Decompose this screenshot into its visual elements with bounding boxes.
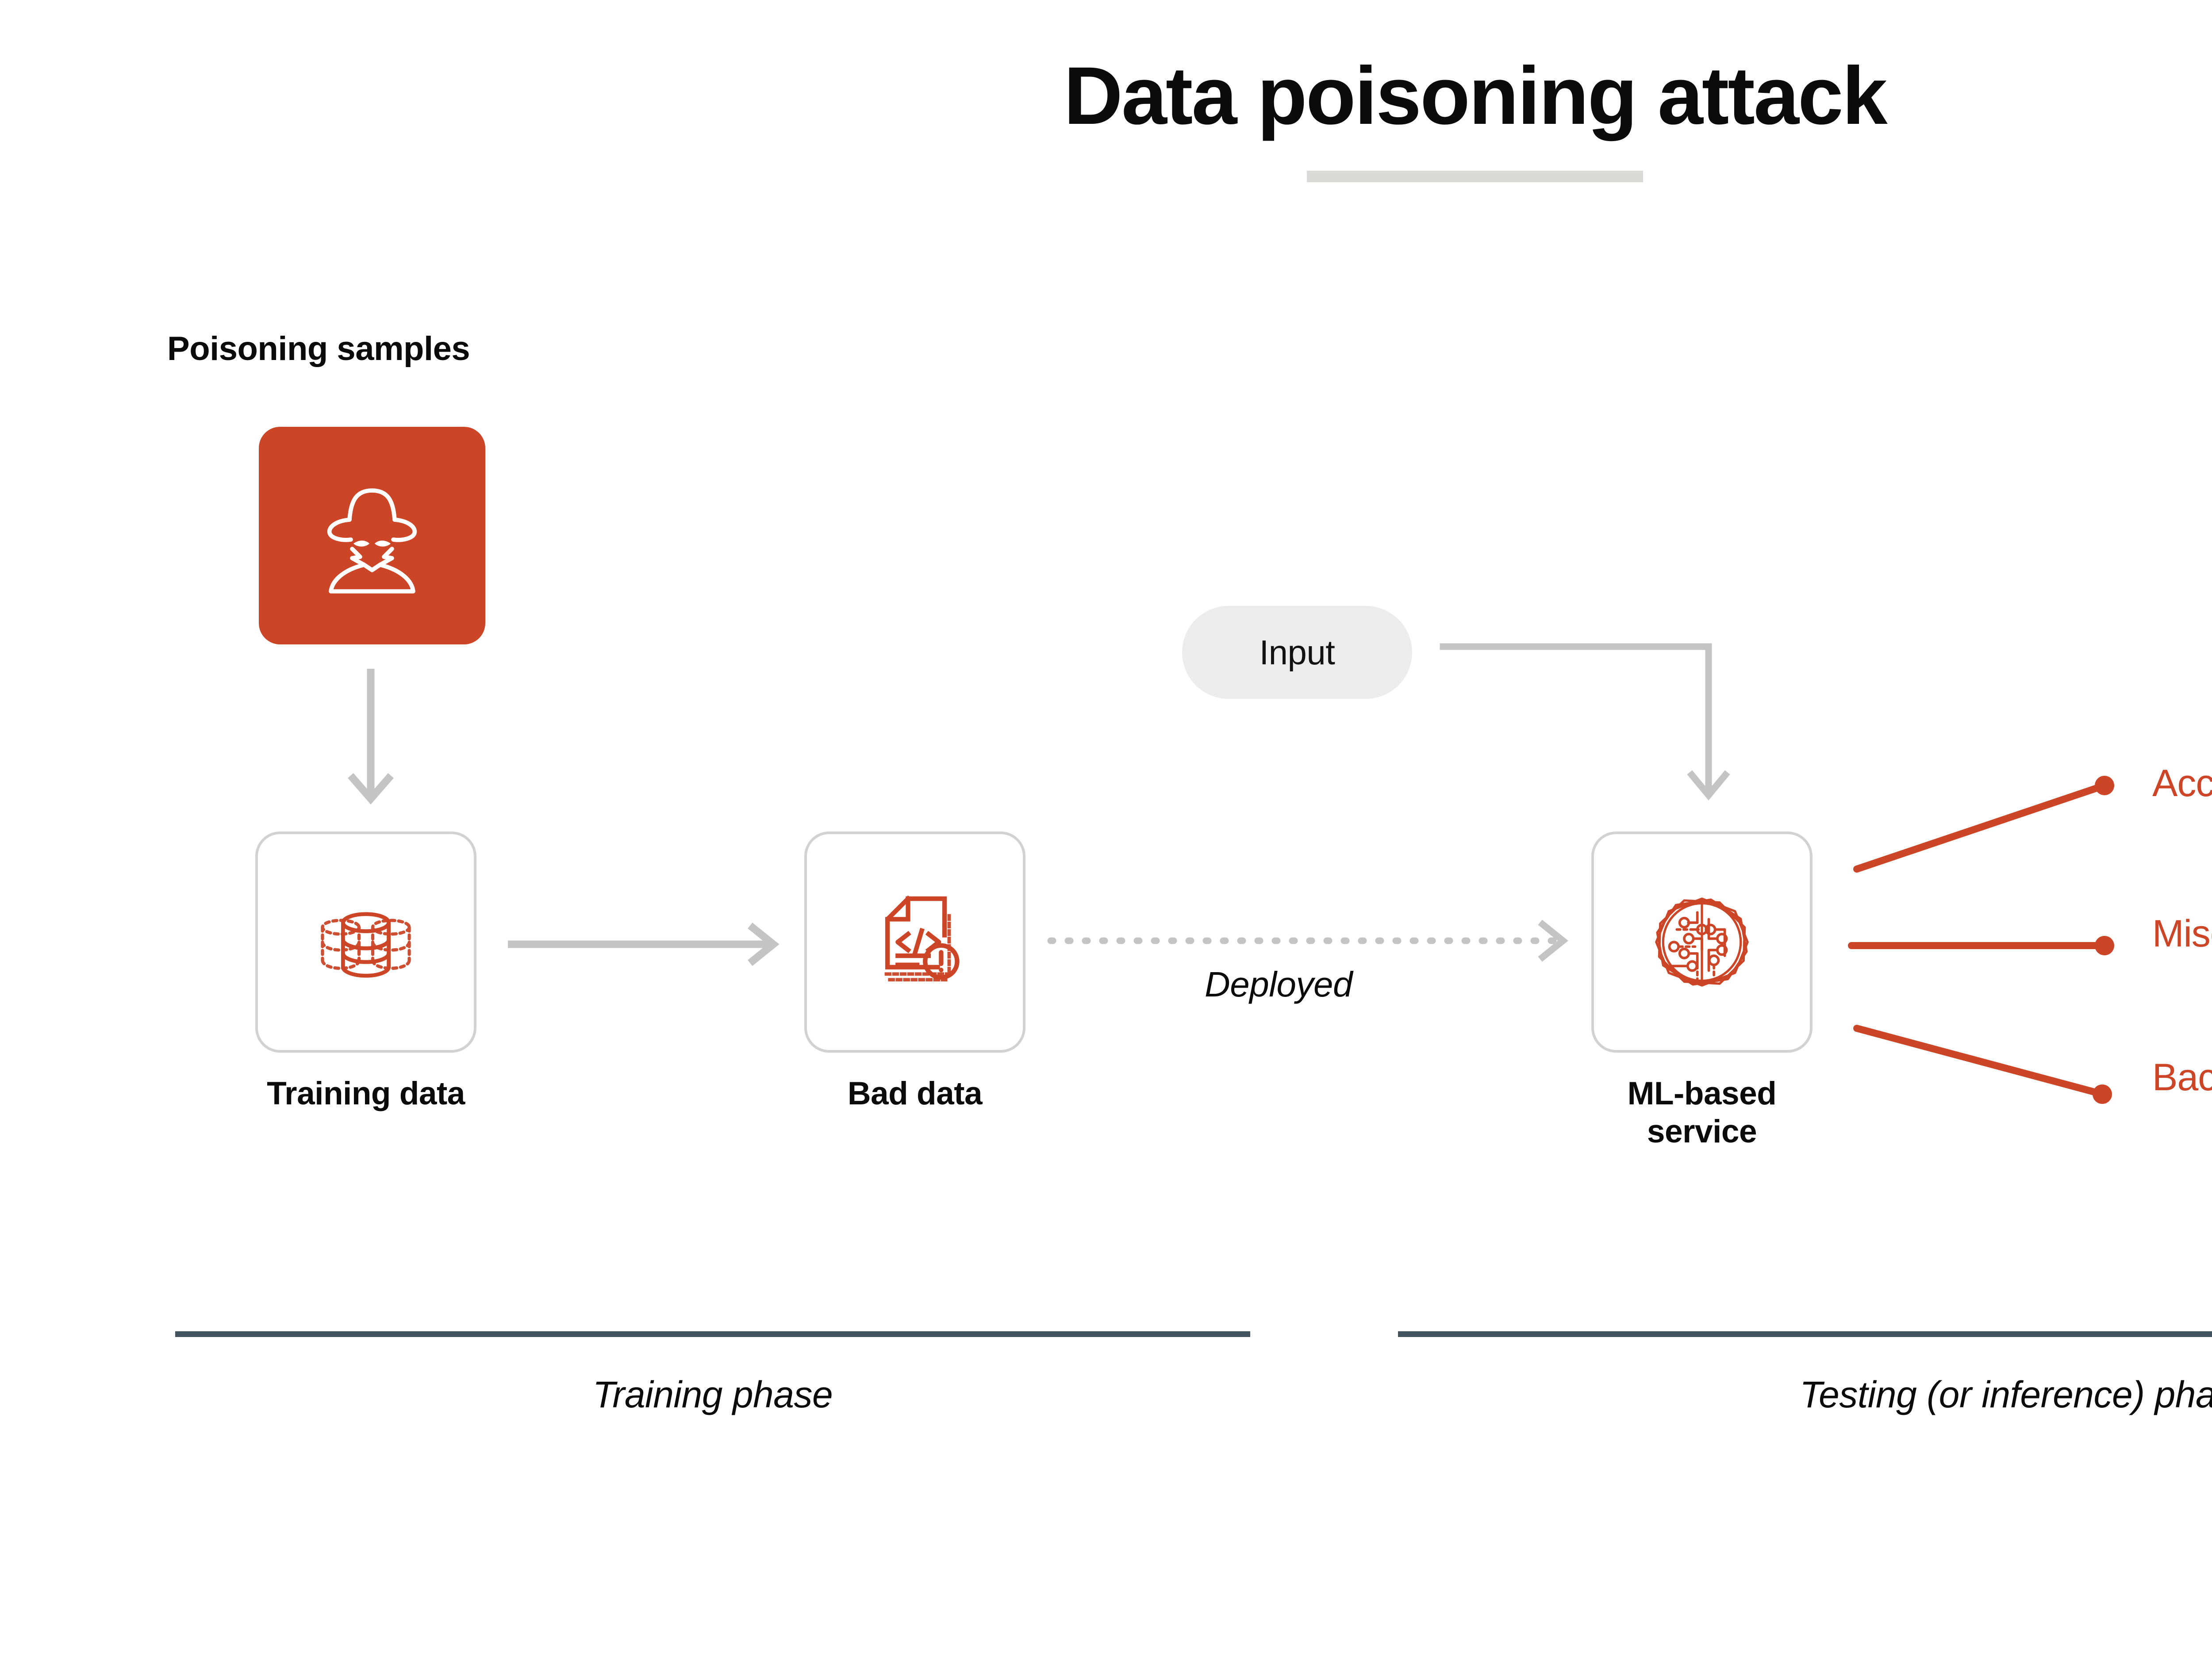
- training-data-card[interactable]: [255, 831, 476, 1053]
- neural-brain-circuit-icon: [1645, 885, 1759, 999]
- database-cylinder-icon: [309, 885, 423, 999]
- input-pill[interactable]: Input: [1182, 606, 1412, 699]
- edge-training-to-bad: [508, 928, 773, 961]
- code-document-warning-icon: [858, 885, 972, 999]
- input-pill-label: Input: [1260, 632, 1335, 673]
- ml-label-line-1: ML-based: [1591, 1075, 1813, 1113]
- training-phase-caption: Training phase: [175, 1373, 1250, 1416]
- edge-attacker-to-training: [353, 669, 388, 799]
- poisoning-samples-tile[interactable]: [259, 427, 485, 644]
- page-title: Data poisoning attack: [0, 53, 2212, 139]
- training-phase-rule: [175, 1331, 1250, 1337]
- edge-input-to-ml: [1443, 647, 1725, 795]
- testing-phase-rule: [1398, 1331, 2212, 1337]
- edge-bad-to-ml-deployed: [1051, 924, 1563, 957]
- deployed-edge-caption: Deployed: [1057, 964, 1500, 1005]
- edge-ml-to-accuracy-drop: [1857, 776, 2114, 869]
- poisoning-samples-heading: Poisoning samples: [167, 330, 470, 368]
- edge-ml-to-backdoor-triggering: [1857, 1028, 2112, 1104]
- ml-based-service-label: ML-based service: [1591, 1075, 1813, 1151]
- bad-data-card[interactable]: [804, 831, 1025, 1053]
- outcome-backdoor-triggering: Backdoor triggering: [2152, 1056, 2212, 1100]
- outcome-misclassifications: Misclassifications: [2152, 912, 2212, 956]
- title-underline-rule: [1307, 171, 1643, 182]
- ml-based-service-card[interactable]: [1591, 831, 1813, 1053]
- bad-data-label: Bad data: [804, 1075, 1025, 1113]
- training-data-label: Training data: [255, 1075, 476, 1113]
- title-block: Data poisoning attack: [0, 53, 2212, 182]
- ml-label-line-2: service: [1591, 1113, 1813, 1151]
- outcome-accuracy-drop: Accuracy drop: [2152, 762, 2212, 805]
- spy-hacker-icon: [306, 469, 438, 602]
- edge-ml-to-misclassifications: [1851, 936, 2114, 955]
- testing-phase-caption: Testing (or inference) phase: [1398, 1373, 2212, 1416]
